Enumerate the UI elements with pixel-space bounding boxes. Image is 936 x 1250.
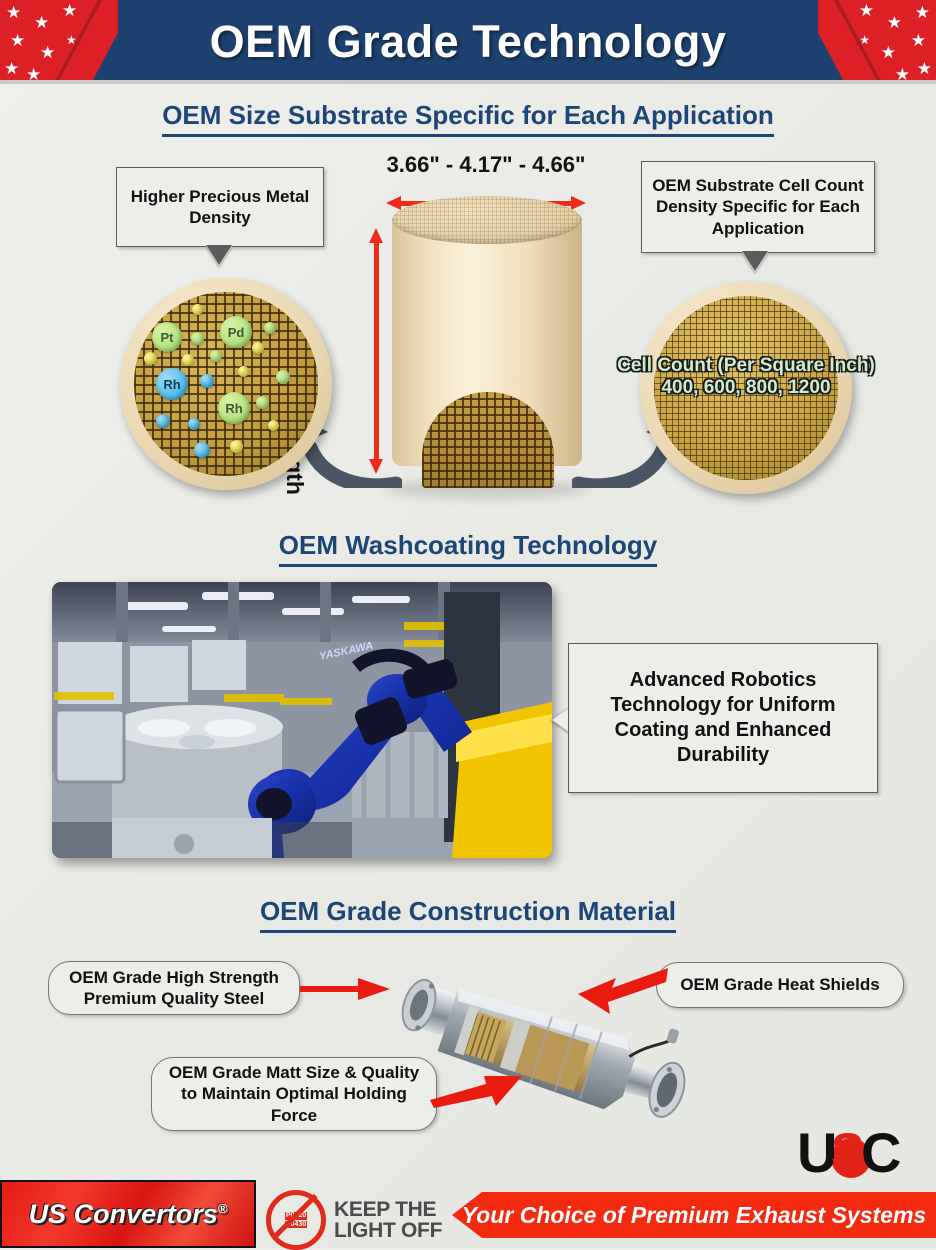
particle-dot: [182, 354, 194, 366]
section-heading-construction: OEM Grade Construction Material: [0, 896, 936, 933]
cell-count-title: Cell Count (Per Square Inch): [596, 355, 896, 377]
particle-pd: Pd: [220, 316, 252, 348]
us-convertors-brand-badge: US Convertors®: [0, 1180, 256, 1248]
particle-dot: [238, 366, 249, 377]
svg-text:S: S: [831, 1123, 864, 1179]
tagline-banner: Your Choice of Premium Exhaust Systems: [452, 1192, 936, 1238]
registered-mark: ®: [218, 1201, 228, 1216]
callout-tail-right: [742, 252, 768, 272]
particle-pt: Pt: [152, 322, 182, 352]
particle-rh-green: Rh: [218, 392, 250, 424]
particle-dot: [192, 304, 203, 315]
no-check-engine-light-icon: P0420 P0430: [266, 1190, 326, 1250]
cell-count-values: 400, 600, 800, 1200: [596, 377, 896, 399]
infographic-page: ★ ★ ★ ★ ★ ★ ★ ★ ★ ★ ★ ★ ★ ★ ★ ★ OEM Grad…: [0, 0, 936, 1248]
callout-substrate-cell-count-density: OEM Substrate Cell Count Density Specifi…: [641, 161, 875, 253]
callout-matt-size-quality: OEM Grade Matt Size & Quality to Maintai…: [151, 1057, 437, 1131]
particle-dot: [252, 342, 264, 354]
particle-dot: [191, 332, 204, 345]
page-footer: US Convertors® P0420 P0430 KEEP THE LIGH…: [0, 1176, 936, 1248]
precious-metal-density-circle: Pt Pd Rh Rh: [120, 278, 332, 490]
page-header: ★ ★ ★ ★ ★ ★ ★ ★ ★ ★ ★ ★ ★ ★ ★ ★ OEM Grad…: [0, 0, 936, 84]
particle-rh-blue: Rh: [156, 368, 188, 400]
substrate-cylinder-illustration: [392, 196, 582, 488]
red-arrow-to-heat-shields-icon: [576, 966, 668, 1016]
callout-tail-left: [206, 246, 232, 266]
particle-dot: [188, 418, 200, 430]
callout-heat-shields: OEM Grade Heat Shields: [656, 962, 904, 1008]
callout-advanced-robotics-text: Advanced Robotics Technology for Uniform…: [577, 668, 869, 769]
tagline-text: Your Choice of Premium Exhaust Systems: [462, 1202, 926, 1229]
robotics-photo: YASKAWA: [52, 582, 552, 858]
section-heading-washcoating-text: OEM Washcoating Technology: [279, 530, 657, 567]
callout-matt-size-quality-text: OEM Grade Matt Size & Quality to Maintai…: [162, 1062, 426, 1126]
keep-line-2: LIGHT OFF: [334, 1220, 442, 1241]
callout-substrate-cell-count-density-text: OEM Substrate Cell Count Density Specifi…: [650, 175, 866, 239]
brand-name: US Convertors: [29, 1199, 218, 1229]
callout-higher-precious-metal-density: Higher Precious Metal Density: [116, 167, 324, 247]
particle-dot: [210, 350, 222, 362]
particle-dot: [144, 352, 157, 365]
red-arrow-to-steel-icon: [300, 976, 392, 1002]
red-arrow-to-matt-icon: [430, 1062, 526, 1108]
keep-the-light-off-group: P0420 P0430 KEEP THE LIGHT OFF: [266, 1190, 442, 1250]
section-heading-substrate-text: OEM Size Substrate Specific for Each App…: [162, 100, 774, 137]
section-heading-washcoating: OEM Washcoating Technology: [0, 530, 936, 567]
particle-dot: [276, 370, 290, 384]
keep-line-1: KEEP THE: [334, 1199, 442, 1220]
callout-advanced-robotics: Advanced Robotics Technology for Uniform…: [568, 643, 878, 793]
usc-logo: U S C: [795, 1122, 923, 1184]
callout-high-strength-steel: OEM Grade High Strength Premium Quality …: [48, 961, 300, 1015]
particle-dot: [200, 374, 214, 388]
page-title: OEM Grade Technology: [0, 0, 936, 84]
section-heading-substrate: OEM Size Substrate Specific for Each App…: [0, 100, 936, 137]
header-divider: [0, 80, 936, 84]
diameter-dimension-label: 3.66" - 4.17" - 4.66": [326, 152, 646, 178]
particle-dot: [256, 396, 269, 409]
particle-dot: [268, 420, 279, 431]
particle-dot: [264, 322, 276, 334]
callout-higher-precious-metal-density-text: Higher Precious Metal Density: [125, 186, 315, 229]
particle-dot: [156, 414, 170, 428]
particle-dot: [230, 440, 243, 453]
callout-heat-shields-text: OEM Grade Heat Shields: [680, 974, 879, 995]
particle-dot: [194, 442, 210, 458]
callout-high-strength-steel-text: OEM Grade High Strength Premium Quality …: [59, 967, 289, 1010]
section-heading-construction-text: OEM Grade Construction Material: [260, 896, 676, 933]
svg-text:C: C: [861, 1122, 901, 1184]
